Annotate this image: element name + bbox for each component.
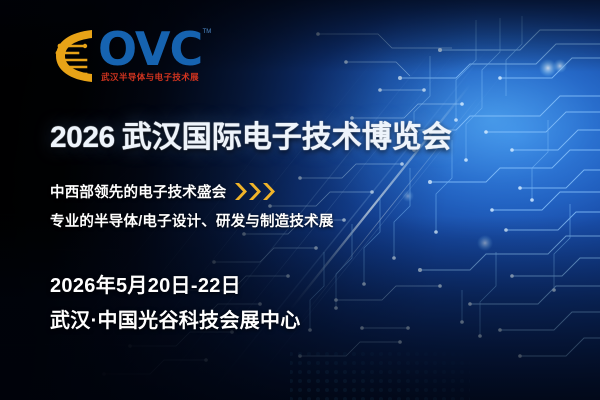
chevron-right-icon bbox=[234, 183, 247, 200]
poster-content: OVC TM 武汉半导体与电子技术展 2026武汉国际电子技术博览会 中西部领先… bbox=[0, 0, 600, 400]
event-venue: 武汉·中国光谷科技会展中心 bbox=[50, 304, 301, 333]
title-year: 2026 bbox=[50, 121, 115, 154]
subtitle-secondary: 专业的半导体/电子设计、研发与制造技术展 bbox=[50, 210, 334, 231]
event-date: 2026年5月20日-22日 bbox=[50, 269, 241, 298]
event-poster: OVC TM 武汉半导体与电子技术展 2026武汉国际电子技术博览会 中西部领先… bbox=[0, 0, 600, 400]
logo-wordmark-block: OVC TM 武汉半导体与电子技术展 bbox=[98, 28, 202, 83]
title-name: 武汉国际电子技术博览会 bbox=[122, 121, 452, 154]
subtitle-primary-row: 中西部领先的电子技术盛会 bbox=[50, 181, 276, 202]
chevron-group bbox=[234, 183, 276, 200]
subtitle-primary: 中西部领先的电子技术盛会 bbox=[50, 181, 226, 202]
chevron-right-icon bbox=[262, 183, 275, 200]
logo-tagline: 武汉半导体与电子技术展 bbox=[98, 71, 202, 83]
chevron-right-icon bbox=[248, 183, 261, 200]
trademark-symbol: TM bbox=[203, 29, 212, 35]
page-title: 2026武汉国际电子技术博览会 bbox=[50, 112, 452, 156]
logo-wordmark: OVC bbox=[98, 28, 202, 70]
brand-logo[interactable]: OVC TM 武汉半导体与电子技术展 bbox=[52, 28, 202, 84]
ovc-circuit-arc-icon bbox=[52, 28, 96, 84]
